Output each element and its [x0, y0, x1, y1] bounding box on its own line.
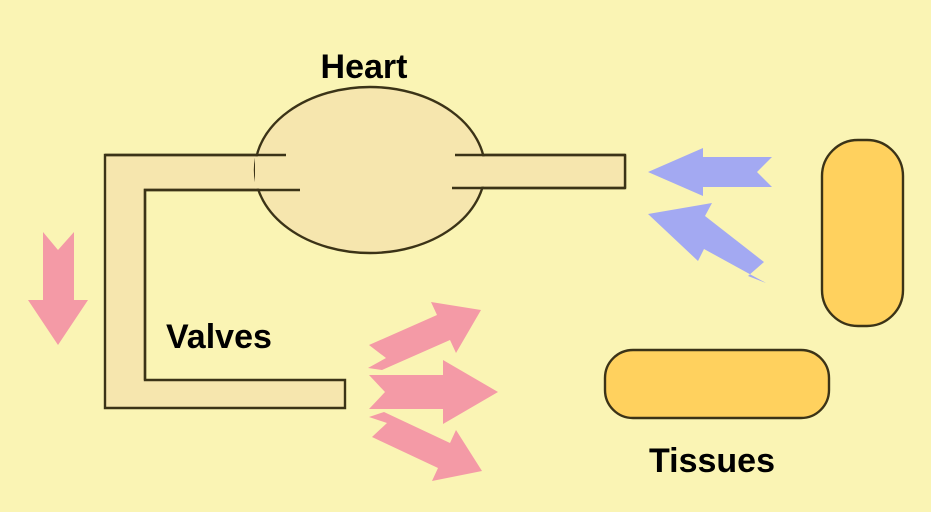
circulatory-diagram: Heart Valves Tissues [0, 0, 931, 512]
aorta-pipe-interior [432, 156, 624, 186]
organ-lungs [822, 140, 903, 326]
diagram-canvas: Heart Valves Tissues [0, 0, 931, 512]
label-tissues: Tissues [649, 442, 775, 480]
organ-tissues [605, 350, 829, 418]
label-heart: Heart [321, 48, 408, 86]
valve-pipe-interior-top [255, 156, 315, 188]
label-valves: Valves [166, 318, 272, 356]
